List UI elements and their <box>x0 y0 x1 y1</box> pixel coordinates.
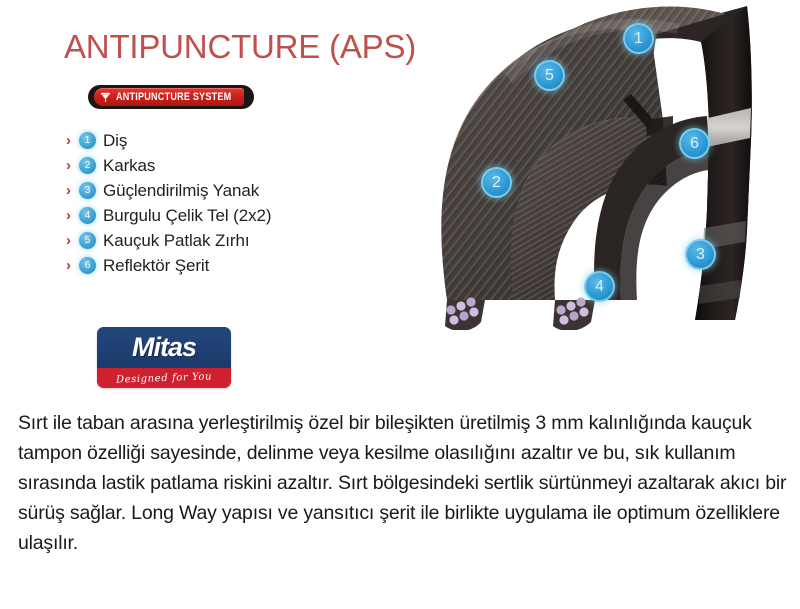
legend-list: › 1 Diş › 2 Karkas › 3 Güçlendirilmiş Ya… <box>66 128 271 278</box>
legend-label-4: Burgulu Çelik Tel (2x2) <box>103 206 271 226</box>
mitas-logo: Mitas Designed for You <box>97 327 231 388</box>
chevron-right-icon: › <box>66 183 79 198</box>
legend-item-2[interactable]: › 2 Karkas <box>66 153 271 178</box>
antipuncture-system-badge-label: ANTIPUNCTURE SYSTEM <box>116 91 231 103</box>
legend-number-2: 2 <box>79 157 96 174</box>
callout-2[interactable]: 2 <box>481 167 512 198</box>
chevron-right-icon: › <box>66 133 79 148</box>
thumbtack-icon <box>99 91 112 104</box>
callout-1-label: 1 <box>634 30 643 48</box>
legend-item-4[interactable]: › 4 Burgulu Çelik Tel (2x2) <box>66 203 271 228</box>
legend-number-6: 6 <box>79 257 96 274</box>
legend-number-3: 3 <box>79 182 96 199</box>
callout-6-label: 6 <box>690 135 699 153</box>
mitas-logo-top: Mitas <box>97 327 231 368</box>
callout-5[interactable]: 5 <box>534 60 565 91</box>
antipuncture-system-badge: ANTIPUNCTURE SYSTEM <box>88 85 254 109</box>
legend-label-2: Karkas <box>103 156 155 176</box>
chevron-right-icon: › <box>66 258 79 273</box>
poster-canvas: 1 5 6 2 3 4 ANTIPUNCTURE (APS) ANTIPUNCT… <box>0 0 800 609</box>
legend-item-6[interactable]: › 6 Reflektör Şerit <box>66 253 271 278</box>
callout-1[interactable]: 1 <box>623 23 654 54</box>
callout-3[interactable]: 3 <box>685 239 716 270</box>
tire-cross-section-illustration: 1 5 6 2 3 4 <box>395 0 800 330</box>
description-paragraph: Sırt ile taban arasına yerleştirilmiş öz… <box>18 408 788 558</box>
legend-label-1: Diş <box>103 131 127 151</box>
legend-item-1[interactable]: › 1 Diş <box>66 128 271 153</box>
legend-number-1: 1 <box>79 132 96 149</box>
legend-label-3: Güçlendirilmiş Yanak <box>103 181 259 201</box>
callout-6[interactable]: 6 <box>679 128 710 159</box>
callout-4[interactable]: 4 <box>584 271 615 302</box>
legend-item-5[interactable]: › 5 Kauçuk Patlak Zırhı <box>66 228 271 253</box>
page-title: ANTIPUNCTURE (APS) <box>64 28 416 66</box>
legend-item-3[interactable]: › 3 Güçlendirilmiş Yanak <box>66 178 271 203</box>
callout-5-label: 5 <box>545 67 554 85</box>
legend-label-5: Kauçuk Patlak Zırhı <box>103 231 249 251</box>
chevron-right-icon: › <box>66 208 79 223</box>
mitas-tagline: Designed for You <box>116 371 212 385</box>
chevron-right-icon: › <box>66 158 79 173</box>
antipuncture-system-badge-inner: ANTIPUNCTURE SYSTEM <box>94 88 244 106</box>
mitas-brand-name: Mitas <box>132 332 196 363</box>
callout-2-label: 2 <box>492 174 501 192</box>
callout-4-label: 4 <box>595 278 604 296</box>
legend-number-4: 4 <box>79 207 96 224</box>
legend-number-5: 5 <box>79 232 96 249</box>
mitas-logo-bottom: Designed for You <box>97 368 231 388</box>
legend-label-6: Reflektör Şerit <box>103 256 209 276</box>
chevron-right-icon: › <box>66 233 79 248</box>
callout-3-label: 3 <box>696 246 705 264</box>
